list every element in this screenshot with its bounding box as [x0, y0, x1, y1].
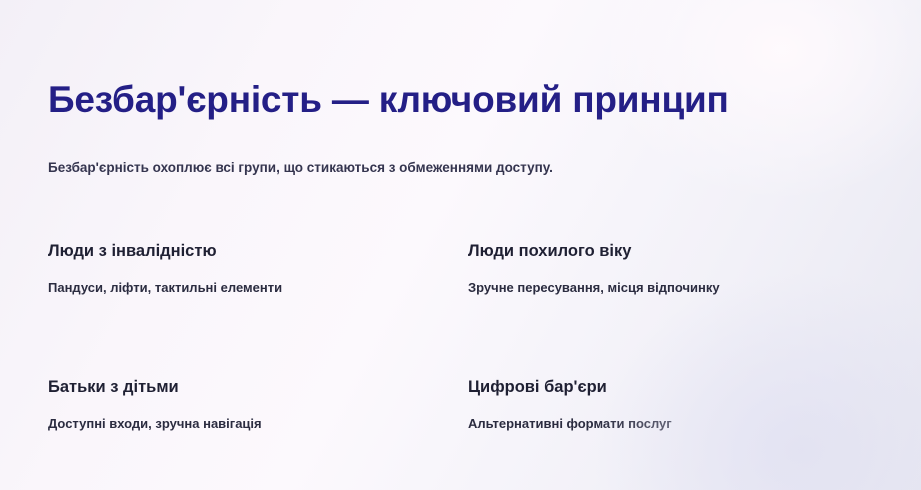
group-card-title: Люди з інвалідністю: [48, 240, 468, 262]
group-card: Люди з інвалідністю Пандуси, ліфти, такт…: [48, 240, 468, 376]
group-card-description: Зручне пересування, місця відпочинку: [468, 278, 848, 297]
slide-root: Безбар'єрність — ключовий принцип Безбар…: [0, 0, 921, 490]
group-card-title: Люди похилого віку: [468, 240, 848, 262]
group-card: Цифрові бар'єри Альтернативні формати по…: [468, 376, 848, 490]
group-card: Люди похилого віку Зручне пересування, м…: [468, 240, 848, 376]
group-card-description: Доступні входи, зручна навігація: [48, 414, 468, 433]
group-card-title: Цифрові бар'єри: [468, 376, 848, 398]
page-subtitle: Безбар'єрність охоплює всі групи, що сти…: [48, 158, 553, 178]
page-title: Безбар'єрність — ключовий принцип: [48, 78, 729, 122]
group-card-description: Альтернативні формати послуг: [468, 414, 848, 433]
groups-grid: Люди з інвалідністю Пандуси, ліфти, такт…: [48, 240, 848, 490]
group-card: Батьки з дітьми Доступні входи, зручна н…: [48, 376, 468, 490]
group-card-title: Батьки з дітьми: [48, 376, 468, 398]
group-card-description: Пандуси, ліфти, тактильні елементи: [48, 278, 468, 297]
